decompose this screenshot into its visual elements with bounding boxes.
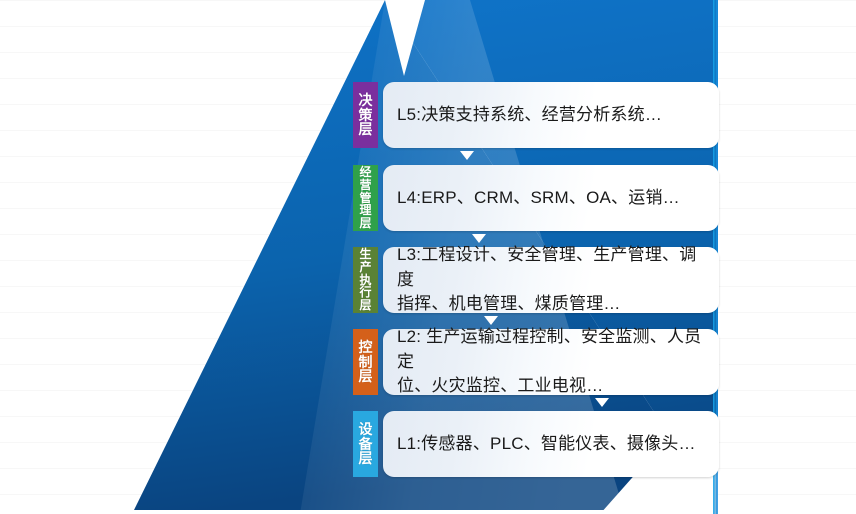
level-row-l2[interactable]: 控 制 层 L2: 生产运输过程控制、安全监测、人员定 位、火灾监控、工业电视… — [353, 329, 719, 395]
level-row-l3[interactable]: 生 产 执 行 层 L3:工程设计、安全管理、生产管理、调度 指挥、机电管理、煤… — [353, 247, 719, 313]
tab-char: 产 — [359, 261, 371, 274]
level-card-l2[interactable]: L2: 生产运输过程控制、安全监测、人员定 位、火灾监控、工业电视… — [383, 329, 719, 395]
connector-arrow-4 — [595, 398, 609, 407]
tab-char: 控 — [359, 340, 373, 355]
level-tab-decision[interactable]: 决 策 层 — [353, 82, 378, 148]
pyramid-diagram-canvas: 决 策 层 L5:决策支持系统、经营分析系统… 经 营 管 理 层 L4:ERP… — [0, 0, 856, 514]
tab-char: 决 — [359, 93, 373, 108]
tab-char: 层 — [359, 369, 373, 384]
level-card-line: 位、火灾监控、工业电视… — [397, 374, 705, 399]
tab-char: 层 — [359, 122, 373, 137]
tab-char: 生 — [359, 248, 371, 261]
level-card-line: L3:工程设计、安全管理、生产管理、调度 — [397, 243, 705, 292]
level-card-line: 指挥、机电管理、煤质管理… — [397, 292, 705, 317]
level-card-text-l4: L4:ERP、CRM、SRM、OA、运销… — [397, 186, 680, 211]
level-row-l1[interactable]: 设 备 层 L1:传感器、PLC、智能仪表、摄像头… — [353, 411, 719, 477]
level-card-l3[interactable]: L3:工程设计、安全管理、生产管理、调度 指挥、机电管理、煤质管理… — [383, 247, 719, 313]
connector-arrow-1 — [460, 151, 474, 160]
connector-arrow-2 — [472, 234, 486, 243]
level-card-l4[interactable]: L4:ERP、CRM、SRM、OA、运销… — [383, 165, 719, 231]
level-card-text-l3: L3:工程设计、安全管理、生产管理、调度 指挥、机电管理、煤质管理… — [397, 243, 705, 317]
level-card-line: L2: 生产运输过程控制、安全监测、人员定 — [397, 325, 705, 374]
level-row-l4[interactable]: 经 营 管 理 层 L4:ERP、CRM、SRM、OA、运销… — [353, 165, 719, 231]
tab-char: 层 — [359, 299, 371, 312]
tab-char: 层 — [359, 451, 373, 466]
tab-char: 营 — [359, 179, 371, 192]
tab-char: 经 — [359, 166, 371, 179]
level-tab-equipment[interactable]: 设 备 层 — [353, 411, 378, 477]
tab-char: 层 — [359, 217, 371, 230]
tab-char: 设 — [359, 422, 373, 437]
level-row-l5[interactable]: 决 策 层 L5:决策支持系统、经营分析系统… — [353, 82, 719, 148]
level-card-l5[interactable]: L5:决策支持系统、经营分析系统… — [383, 82, 719, 148]
level-card-l1[interactable]: L1:传感器、PLC、智能仪表、摄像头… — [383, 411, 719, 477]
level-tab-production-execution[interactable]: 生 产 执 行 层 — [353, 247, 378, 313]
connector-arrow-3 — [484, 316, 498, 325]
level-tab-control[interactable]: 控 制 层 — [353, 329, 378, 395]
level-card-text-l5: L5:决策支持系统、经营分析系统… — [397, 103, 662, 128]
level-tab-business-management[interactable]: 经 营 管 理 层 — [353, 165, 378, 231]
level-card-text-l2: L2: 生产运输过程控制、安全监测、人员定 位、火灾监控、工业电视… — [397, 325, 705, 399]
level-card-text-l1: L1:传感器、PLC、智能仪表、摄像头… — [397, 432, 696, 457]
